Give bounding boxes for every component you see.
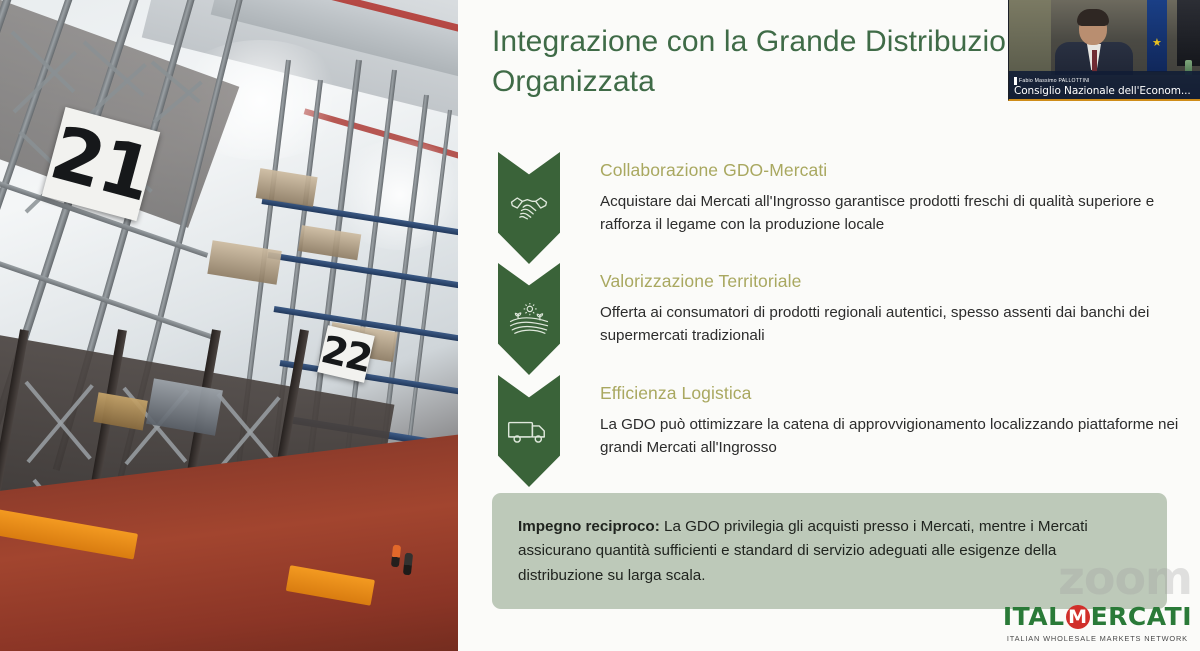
section-body: Acquistare dai Mercati all'Ingrosso gara…	[600, 190, 1182, 236]
video-speaker-overlay[interactable]: ★ Fabio Massimo PALLOTTINI Consiglio Naz…	[1008, 0, 1200, 101]
section-body: Offerta ai consumatori di prodotti regio…	[600, 301, 1182, 347]
logo-text-part1: ITAL	[1003, 602, 1065, 631]
logo-m-badge: M	[1066, 605, 1090, 629]
zoom-watermark: zoom	[1058, 551, 1192, 605]
flag-dark	[1177, 0, 1200, 66]
warehouse-racking-photo: 21 22	[0, 0, 458, 651]
farm-field-sun-icon	[498, 295, 560, 343]
section-text: Valorizzazione Territoriale Offerta ai c…	[566, 263, 1182, 347]
section-row-valorizzazione: Valorizzazione Territoriale Offerta ai c…	[492, 263, 1182, 347]
section-body: La GDO può ottimizzare la catena di appr…	[600, 413, 1182, 459]
section-heading: Valorizzazione Territoriale	[600, 271, 1182, 292]
page-title: Integrazione con la Grande Distribuzione…	[492, 22, 1092, 102]
speaker-tie	[1092, 50, 1097, 72]
eu-flag-star-icon: ★	[1152, 38, 1162, 49]
chevron-wrap	[492, 263, 566, 347]
logo-text-part2: ERCATI	[1091, 602, 1192, 631]
section-heading: Collaborazione GDO-Mercati	[600, 160, 1182, 181]
section-text: Collaborazione GDO-Mercati Acquistare da…	[566, 152, 1182, 236]
callout-lead: Impegno reciproco:	[518, 518, 660, 535]
section-row-efficienza: Efficienza Logistica La GDO può ottimizz…	[492, 375, 1182, 459]
chevron-wrap	[492, 152, 566, 236]
section-heading: Efficienza Logistica	[600, 383, 1182, 404]
logo-subtitle: ITALIAN WHOLESALE MARKETS NETWORK	[1003, 634, 1192, 643]
speaker-organization: Consiglio Nazionale dell'Econom...	[1014, 85, 1191, 97]
delivery-truck-icon	[498, 407, 560, 455]
callout-text: Impegno reciproco: La GDO privilegia gli…	[518, 515, 1141, 588]
section-row-collaborazione: Collaborazione GDO-Mercati Acquistare da…	[492, 152, 1182, 236]
lower-third-accent-bar	[1014, 77, 1017, 85]
speaker-hair	[1077, 9, 1109, 26]
section-text: Efficienza Logistica La GDO può ottimizz…	[566, 375, 1182, 459]
chevron-wrap	[492, 375, 566, 459]
logo-wordmark: ITAL M ERCATI	[1003, 602, 1192, 631]
eu-flag	[1147, 0, 1167, 72]
italmercati-logo: ITAL M ERCATI ITALIAN WHOLESALE MARKETS …	[1003, 602, 1192, 643]
handshake-icon	[498, 184, 560, 232]
aisle-number-sign-22: 22	[317, 325, 375, 383]
speaker-name: Fabio Massimo PALLOTTINI	[1019, 78, 1090, 84]
presentation-screenshot: 21 22 Integrazione con la Grande Distrib…	[0, 0, 1200, 651]
